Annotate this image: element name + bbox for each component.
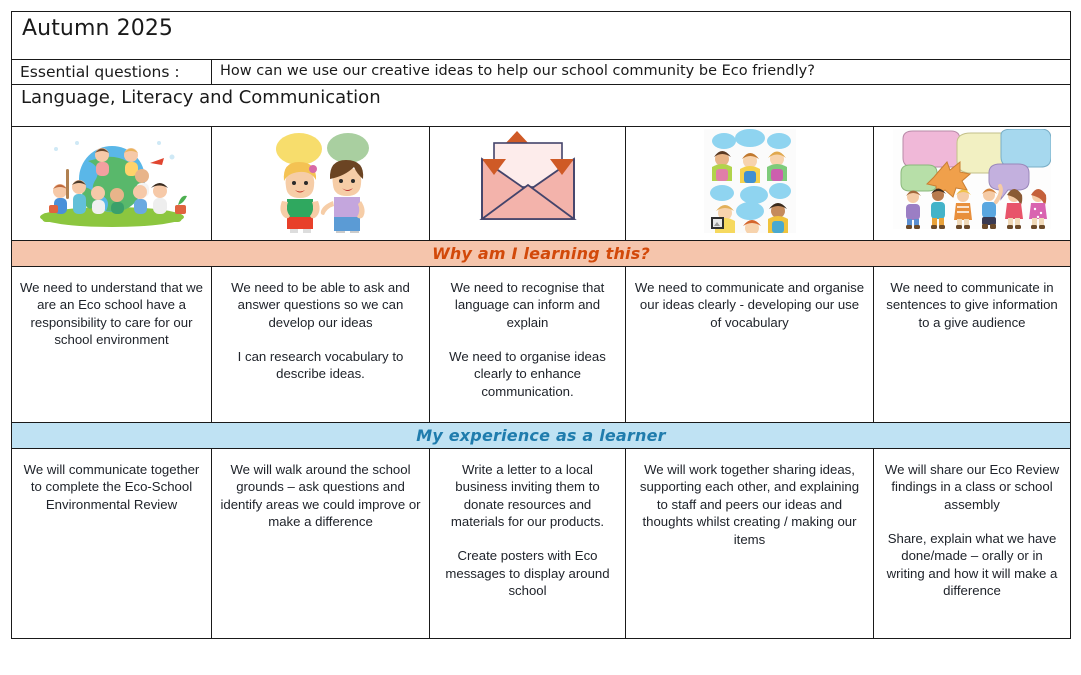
image-cell-2: [212, 127, 430, 241]
essential-question-text: How can we use our creative ideas to hel…: [212, 60, 1071, 85]
why-cell-5: We need to communicate in sentences to g…: [874, 267, 1071, 423]
why-cell-3-paragraph-2: We need to organise ideas clearly to enh…: [437, 348, 618, 400]
experience-cell-1: We will communicate together to complete…: [12, 449, 212, 639]
title-row: Autumn 2025: [12, 12, 1071, 60]
why-cell-2-paragraph-1: We need to be able to ask and answer que…: [219, 279, 422, 331]
curriculum-planner-table: Autumn 2025 Essential questions : How ca…: [11, 11, 1071, 639]
illustration-row: [12, 127, 1071, 241]
image-cell-1: [12, 127, 212, 241]
why-content-row: We need to understand that we are an Eco…: [12, 267, 1071, 423]
essential-question-row: Essential questions : How can we use our…: [12, 60, 1071, 85]
why-cell-2-paragraph-2: I can research vocabulary to describe id…: [219, 348, 422, 383]
children-with-thought-bubbles-illustration: [704, 129, 796, 238]
experience-cell-5: We will share our Eco Review findings in…: [874, 449, 1071, 639]
area-of-learning-title: Language, Literacy and Communication: [12, 85, 1071, 127]
experience-content-row: We will communicate together to complete…: [12, 449, 1071, 639]
image-cell-5: [874, 127, 1071, 241]
image-cell-3: [430, 127, 626, 241]
children-around-globe-illustration: [32, 129, 192, 234]
experience-cell-3: Write a letter to a local business invit…: [430, 449, 626, 639]
image-cell-4: [626, 127, 874, 241]
experience-cell-5-paragraph-1: We will share our Eco Review findings in…: [881, 461, 1063, 513]
area-of-learning-row: Language, Literacy and Communication: [12, 85, 1071, 127]
why-cell-4: We need to communicate and organise our …: [626, 267, 874, 423]
experience-banner-row: My experience as a learner: [12, 423, 1071, 449]
essential-questions-label: Essential questions :: [12, 60, 212, 85]
why-cell-3: We need to recognise that language can i…: [430, 267, 626, 423]
experience-cell-4-paragraph-1: We will work together sharing ideas, sup…: [633, 461, 866, 548]
why-banner-row: Why am I learning this?: [12, 241, 1071, 267]
experience-cell-2: We will walk around the school grounds –…: [212, 449, 430, 639]
my-experience-as-a-learner-banner: My experience as a learner: [12, 423, 1071, 449]
term-title: Autumn 2025: [12, 12, 1071, 60]
experience-cell-1-paragraph-1: We will communicate together to complete…: [19, 461, 204, 513]
why-am-i-learning-this-banner: Why am I learning this?: [12, 241, 1071, 267]
experience-cell-4: We will work together sharing ideas, sup…: [626, 449, 874, 639]
experience-cell-5-paragraph-2: Share, explain what we have done/made – …: [881, 530, 1063, 600]
planner-sheet: Autumn 2025 Essential questions : How ca…: [0, 0, 1081, 675]
why-cell-5-paragraph-1: We need to communicate in sentences to g…: [881, 279, 1063, 331]
experience-cell-3-paragraph-1: Write a letter to a local business invit…: [437, 461, 618, 531]
why-cell-1-paragraph-1: We need to understand that we are an Eco…: [19, 279, 204, 349]
why-cell-2: We need to be able to ask and answer que…: [212, 267, 430, 423]
experience-cell-2-paragraph-1: We will walk around the school grounds –…: [219, 461, 422, 531]
two-children-talking-speech-bubbles-illustration: [261, 129, 381, 238]
group-of-children-with-speech-bubbles-illustration: [893, 129, 1051, 234]
why-cell-4-paragraph-1: We need to communicate and organise our …: [633, 279, 866, 331]
open-envelope-with-letter-illustration: [472, 129, 584, 232]
why-cell-1: We need to understand that we are an Eco…: [12, 267, 212, 423]
why-cell-3-paragraph-1: We need to recognise that language can i…: [437, 279, 618, 331]
experience-cell-3-paragraph-2: Create posters with Eco messages to disp…: [437, 547, 618, 599]
